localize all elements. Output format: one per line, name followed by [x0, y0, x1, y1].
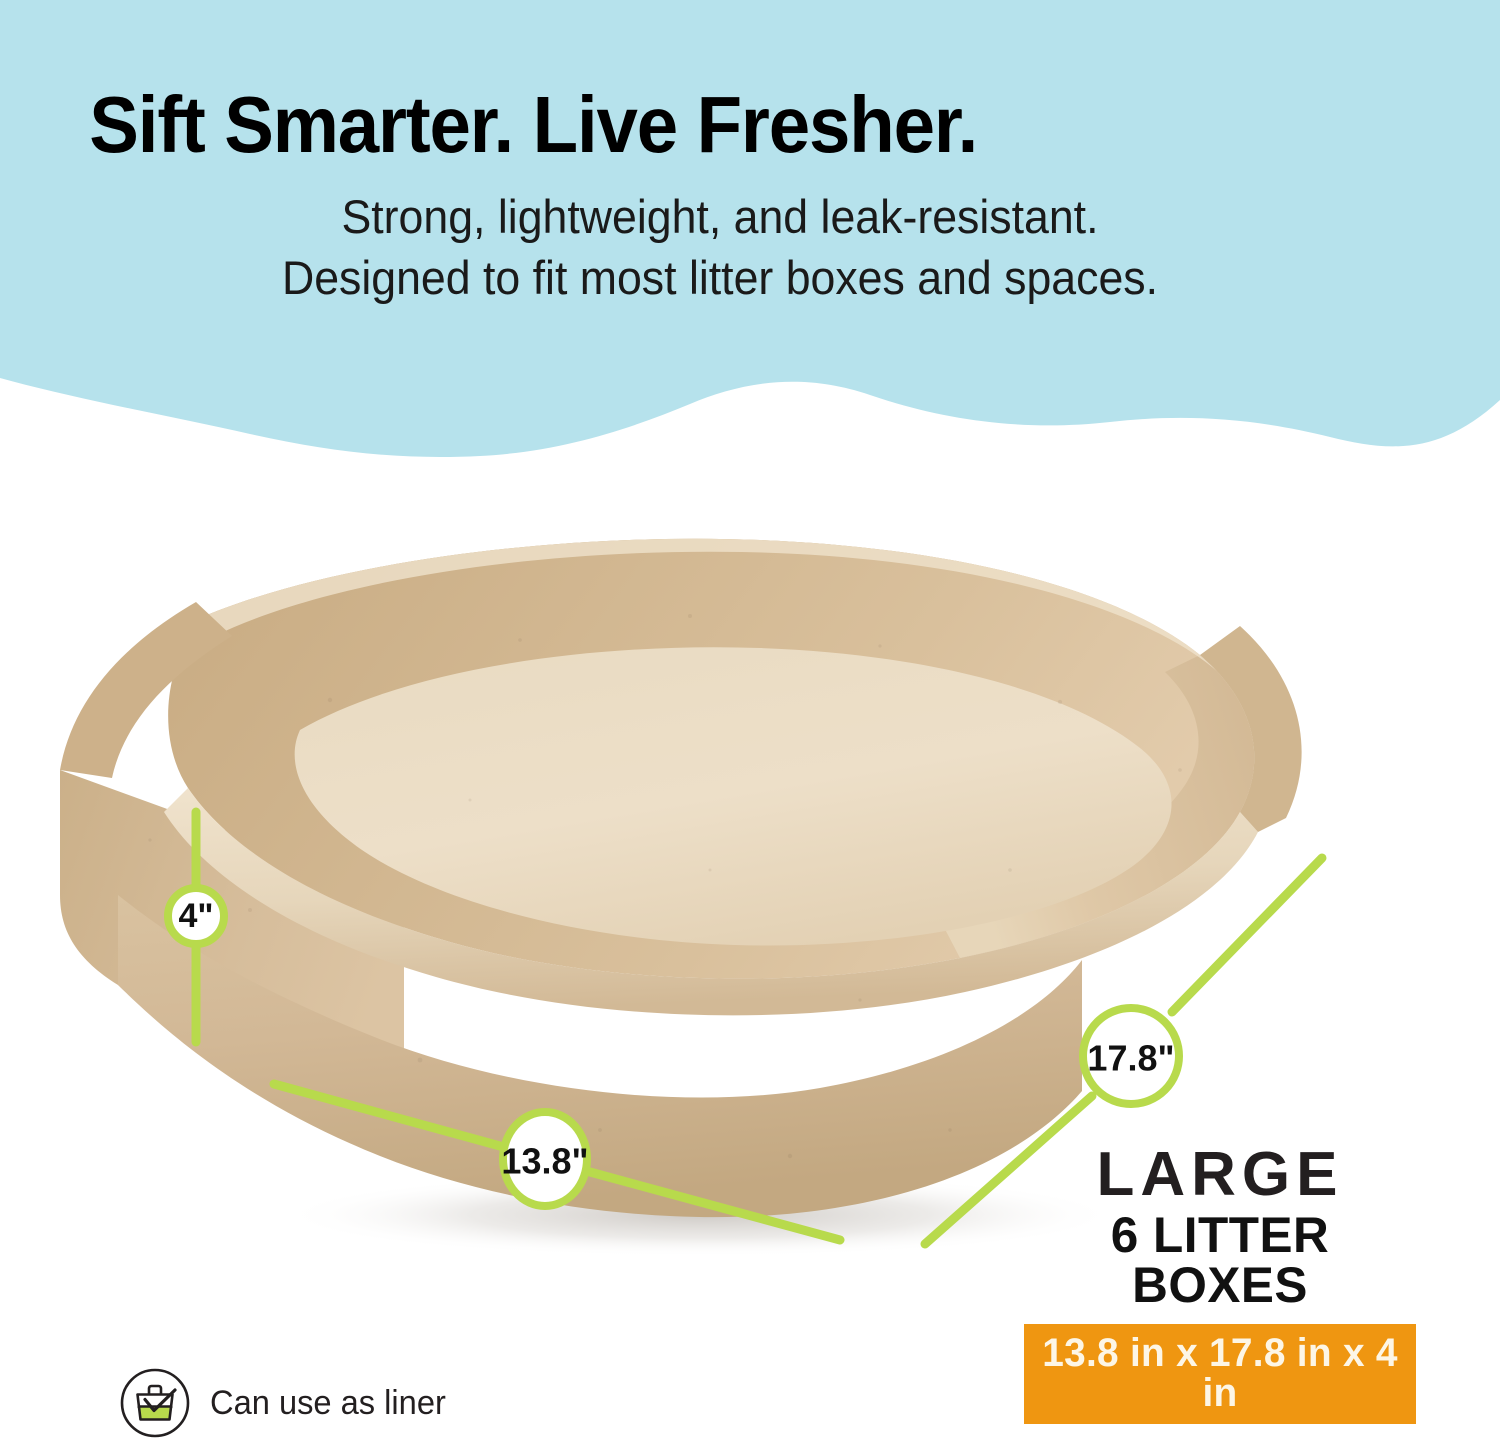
size-label: LARGE: [1024, 1144, 1416, 1206]
subheadline-line-1: Strong, lightweight, and leak-resistant.: [36, 186, 1404, 247]
measurements-banner: 13.8 in x 17.8 in x 4 in: [1024, 1324, 1416, 1424]
header-text-group: Sift Smarter. Live Fresher. Strong, ligh…: [0, 0, 1500, 309]
liner-feature: Can use as liner: [118, 1366, 456, 1440]
product-infographic: Sift Smarter. Live Fresher. Strong, ligh…: [0, 0, 1500, 1448]
quantity-label: 6 LITTER BOXES: [1026, 1210, 1414, 1310]
page-subheadline: Strong, lightweight, and leak-resistant.…: [0, 164, 1440, 308]
size-block: LARGE 6 LITTER BOXES 13.8 in x 17.8 in x…: [1024, 1144, 1416, 1424]
subheadline-line-2: Designed to fit most litter boxes and sp…: [36, 247, 1404, 308]
measurements-text: 13.8 in x 17.8 in x 4 in: [1040, 1333, 1401, 1413]
liner-feature-label: Can use as liner: [210, 1384, 446, 1423]
litter-box-check-icon: [118, 1366, 192, 1440]
page-headline: Sift Smarter. Live Fresher.: [0, 0, 1395, 164]
